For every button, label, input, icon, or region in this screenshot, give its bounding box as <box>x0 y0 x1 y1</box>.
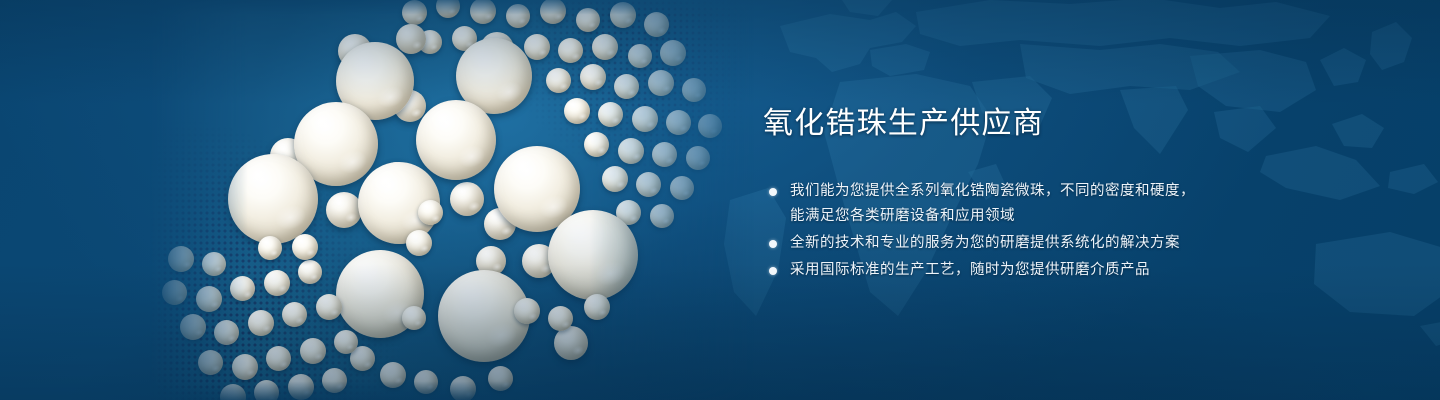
bullet-dot-icon <box>769 240 777 248</box>
list-item: 全新的技术和专业的服务为您的研磨提供系统化的解决方案 <box>763 231 1363 256</box>
bullet-dot-icon <box>769 267 777 275</box>
list-item-line: 能满足您各类研磨设备和应用领域 <box>790 204 1363 229</box>
list-item-line: 全新的技术和专业的服务为您的研磨提供系统化的解决方案 <box>790 231 1363 256</box>
page-title: 氧化锆珠生产供应商 <box>763 106 1363 141</box>
list-item-line: 我们能为您提供全系列氧化锆陶瓷微珠，不同的密度和硬度， <box>790 179 1363 204</box>
feature-list: 我们能为您提供全系列氧化锆陶瓷微珠，不同的密度和硬度， 能满足您各类研磨设备和应… <box>763 179 1363 283</box>
banner-content: 氧化锆珠生产供应商 我们能为您提供全系列氧化锆陶瓷微珠，不同的密度和硬度， 能满… <box>763 106 1363 285</box>
list-item: 采用国际标准的生产工艺，随时为您提供研磨介质产品 <box>763 258 1363 283</box>
hero-banner: 氧化锆珠生产供应商 我们能为您提供全系列氧化锆陶瓷微珠，不同的密度和硬度， 能满… <box>0 0 1440 400</box>
list-item: 我们能为您提供全系列氧化锆陶瓷微珠，不同的密度和硬度， 能满足您各类研磨设备和应… <box>763 179 1363 229</box>
list-item-line: 采用国际标准的生产工艺，随时为您提供研磨介质产品 <box>790 258 1363 283</box>
bullet-dot-icon <box>769 188 777 196</box>
